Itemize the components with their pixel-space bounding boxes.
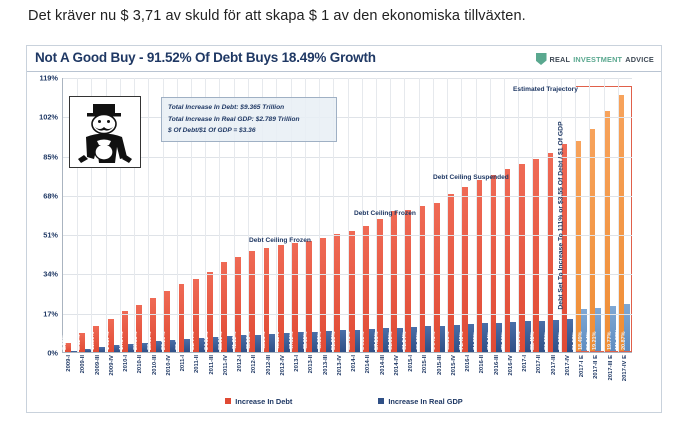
brand-word-investment: INVESTMENT	[573, 55, 622, 64]
vertical-gridline	[461, 78, 462, 352]
x-axis-tick-label: 2017-II E	[593, 355, 599, 379]
x-axis-tick-label: 2017-III	[551, 355, 557, 375]
x-axis-tick-label: 2017-I E	[579, 355, 585, 377]
x-axis-tick-label: 2010-III	[152, 355, 158, 375]
x-axis-tick-label: 2009-IV	[109, 355, 115, 376]
x-axis-tick-label: 2017-IV E	[622, 355, 628, 381]
brand-word-real: REAL	[550, 55, 571, 64]
x-axis-tick-label: 2017-III E	[608, 355, 614, 381]
x-axis-tick-label: 2014-IV	[394, 355, 400, 376]
x-axis-tick-label: 2015-I	[408, 355, 414, 372]
x-axis-tick-label: 2013-II	[308, 355, 314, 373]
brand-logo: REAL INVESTMENT ADVICE	[536, 53, 654, 65]
x-axis-tick-label: 2009-I	[66, 355, 72, 372]
x-axis-tick-label: 2014-III	[380, 355, 386, 375]
y-axis-tick: 85%	[43, 152, 58, 161]
shield-icon	[536, 53, 547, 65]
x-axis-tick-label: 2017-IV	[565, 355, 571, 376]
x-axis-tick-label: 2012-II	[251, 355, 257, 373]
x-axis-tick-label: 2010-IV	[166, 355, 172, 376]
x-axis-tick-label: 2012-IV	[280, 355, 286, 376]
x-axis-tick-label: 2015-III	[437, 355, 443, 375]
y-axis-tick: 119%	[40, 74, 59, 83]
right-vertical-annotation: Debt Set To Increase To 111% or $3.55 Of…	[467, 84, 655, 346]
info-debt-per-gdp: $ Of Debt/$1 Of GDP = $3.36	[168, 125, 330, 137]
monopoly-man-image	[69, 96, 141, 168]
right-vertical-annotation-text: Debt Set To Increase To 111% or $3.55 Of…	[557, 121, 564, 309]
vertical-gridline	[419, 78, 420, 352]
brand-word-advice: ADVICE	[625, 55, 654, 64]
x-axis-tick-label: 2013-IV	[337, 355, 343, 376]
bar-slot[interactable]: 64.41%	[432, 78, 446, 352]
x-axis-tick-label: 2011-II	[194, 355, 200, 373]
x-axis-tick-label: 2014-I	[351, 355, 357, 372]
x-axis-tick-label: 2013-I	[294, 355, 300, 372]
info-total-debt: Total Increase In Debt: $9.365 Trillion	[168, 102, 330, 114]
x-axis-tick-label: 2016-IV	[508, 355, 514, 376]
x-axis-tick-label: 2012-III	[266, 355, 272, 375]
x-axis-tick-label: 2015-II	[422, 355, 428, 373]
bar-increase-in-real-gdp[interactable]	[71, 351, 77, 352]
y-axis-tick: 68%	[43, 191, 58, 200]
legend-label-gdp: Increase In Real GDP	[388, 397, 462, 406]
summary-info-box: Total Increase In Debt: $9.365 Trillion …	[161, 97, 337, 142]
x-axis-tick-label: 2009-II	[80, 355, 86, 373]
y-axis-tick: 102%	[39, 113, 58, 122]
x-axis-tick-label: 2016-II	[479, 355, 485, 373]
chart-title-bar: Not A Good Buy - 91.52% Of Debt Buys 18.…	[27, 46, 661, 72]
bar-slot[interactable]: 63.28%	[418, 78, 432, 352]
x-axis-tick-label: 2016-III	[494, 355, 500, 375]
info-total-gdp: Total Increase In Real GDP: $2.789 Trill…	[168, 114, 330, 126]
annotation-debt-ceiling-frozen-2: Debt Ceiling Frozen	[249, 237, 311, 244]
plot-area: 0%17%34%51%68%85%102%119% 3.99%8.12%11.3…	[27, 72, 661, 413]
x-axis-tick-label: 2015-IV	[451, 355, 457, 376]
vertical-gridline	[447, 78, 448, 352]
x-axis-tick-label: 2014-II	[365, 355, 371, 373]
y-axis-tick: 51%	[43, 231, 58, 240]
bar-label-debt: 51.23%	[331, 332, 337, 350]
x-axis-tick-label: 2011-I	[180, 355, 186, 371]
x-axis-tick-label: 2017-I	[522, 355, 528, 372]
legend-swatch-debt	[225, 398, 231, 404]
x-axis-tick-label: 2016-I	[465, 355, 471, 372]
x-axis-tick-label: 2011-III	[209, 355, 215, 375]
bar-slot[interactable]: 68.35%	[447, 78, 461, 352]
legend-swatch-gdp	[378, 398, 384, 404]
x-axis-tick-label: 2011-IV	[223, 355, 229, 375]
x-axis-tick-label: 2013-III	[323, 355, 329, 375]
page-caption: Det kräver nu $ 3,71 av skuld för att sk…	[0, 0, 685, 24]
x-axis-tick-label: 2012-I	[237, 355, 243, 372]
y-axis-tick: 34%	[43, 270, 58, 279]
x-axis-tick-label: 2017-II	[536, 355, 542, 373]
x-axis-tick-label: 2010-II	[137, 355, 143, 373]
chart-legend: Increase In Debt Increase In Real GDP	[27, 394, 661, 408]
vertical-gridline	[433, 78, 434, 352]
chart-card: Not A Good Buy - 91.52% Of Debt Buys 18.…	[26, 45, 662, 413]
x-axis-tick-label: 2010-I	[123, 355, 129, 372]
chart-title: Not A Good Buy - 91.52% Of Debt Buys 18.…	[35, 50, 376, 65]
monopoly-man-icon	[70, 97, 140, 167]
y-axis-tick: 17%	[43, 309, 58, 318]
vertical-gridline	[148, 78, 149, 352]
annotation-debt-ceiling-frozen-1: Debt Ceiling Frozen	[354, 210, 416, 217]
bar-label-debt: 3.99%	[62, 335, 68, 350]
bar-label-debt: 52.41%	[346, 332, 352, 350]
x-axis-tick-label: 2009-III	[95, 355, 101, 375]
bar-label-debt: 54.33%	[360, 332, 366, 350]
x-axis: 2009-I2009-II2009-III2009-IV2010-I2010-I…	[62, 355, 632, 399]
legend-label-debt: Increase In Debt	[235, 397, 292, 406]
y-axis-tick: 0%	[47, 349, 58, 358]
legend-item-gdp: Increase In Real GDP	[378, 397, 462, 406]
legend-item-debt: Increase In Debt	[225, 397, 292, 406]
vertical-gridline	[348, 78, 349, 352]
y-axis: 0%17%34%51%68%85%102%119%	[27, 78, 61, 353]
